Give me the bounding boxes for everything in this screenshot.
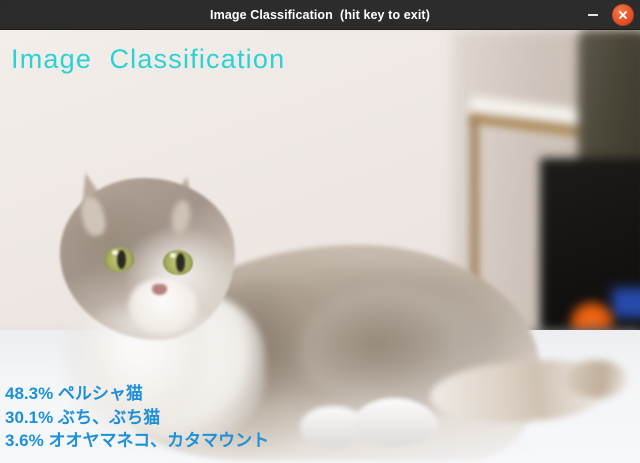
cat-tail-tip <box>565 360 627 398</box>
close-icon <box>618 10 628 20</box>
window-title: Image Classification (hit key to exit) <box>210 8 430 22</box>
cat-pupil-right <box>176 253 185 272</box>
overlay-heading: Image Classification <box>11 44 285 75</box>
close-button[interactable] <box>612 4 634 26</box>
minimize-icon <box>588 14 598 16</box>
window-controls <box>582 0 634 30</box>
minimize-button[interactable] <box>582 4 604 26</box>
classified-image: Image Classification 48.3% ペルシャ猫 30.1% ぶ… <box>0 30 640 463</box>
title-bar[interactable]: Image Classification (hit key to exit) <box>0 0 640 30</box>
cat-nose <box>152 284 167 295</box>
cat-pupil-left <box>117 250 126 269</box>
prediction-row: 3.6% オオヤマネコ、カタマウント <box>5 431 269 452</box>
cat-eye-shine-left <box>112 250 118 255</box>
prediction-list: 48.3% ペルシャ猫 30.1% ぶち、ぶち猫 3.6% オオヤマネコ、カタマ… <box>5 384 269 452</box>
prediction-row: 30.1% ぶち、ぶち猫 <box>5 408 269 429</box>
cat-eye-shine-right <box>170 253 176 258</box>
application-window: Image Classification (hit key to exit) <box>0 0 640 463</box>
prediction-row: 48.3% ペルシャ猫 <box>5 384 269 405</box>
